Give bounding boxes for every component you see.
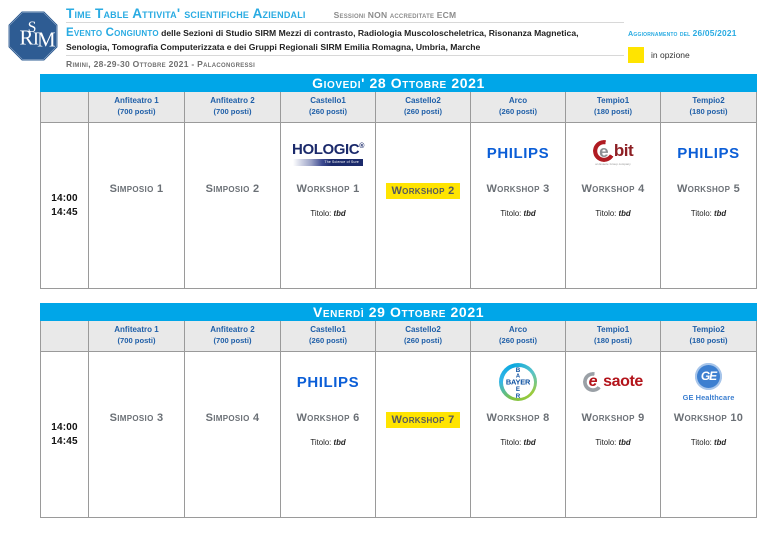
legend-option: in opzione: [628, 47, 768, 63]
titolo-value: tbd: [524, 209, 536, 218]
session-cell-content: PHILIPSWorkshop 5Titolo: tbd: [661, 123, 756, 288]
session-title: Titolo: tbd: [595, 209, 630, 218]
title-line: Time Table Attivita' scientifiche Aziend…: [66, 6, 624, 21]
day-bar-day: Venerdì: [313, 304, 364, 320]
room-header-0: Anfiteatro 1(700 posti): [89, 92, 185, 123]
session-name: Workshop 5: [677, 183, 740, 195]
sirm-logo-icon: R S I M: [7, 10, 59, 62]
room-header-3: Castello2(260 posti): [376, 321, 471, 352]
room-header-2: Castello1(260 posti): [281, 321, 376, 352]
room-seats: (700 posti): [91, 336, 182, 346]
ecm-note: Sessioni NON accreditate ECM: [316, 10, 457, 20]
room-header-row: Anfiteatro 1(700 posti)Anfiteatro 2(700 …: [41, 92, 757, 123]
sponsor-logo-slot: HOLOGIC®The Science of Sure: [281, 123, 375, 175]
room-header-2: Castello1(260 posti): [281, 92, 376, 123]
session-cell-6[interactable]: GEGE HealthcareWorkshop 10Titolo: tbd: [661, 352, 757, 518]
session-cell-5[interactable]: ebitan Esaote Group companyWorkshop 4Tit…: [566, 123, 661, 289]
room-header-5: Tempio1(180 posti): [566, 321, 661, 352]
room-header-spacer: [41, 321, 89, 352]
evento-divider: [66, 55, 624, 56]
session-cell-0[interactable]: Simposio 3: [89, 352, 185, 518]
session-cell-content: BAYERBAYERWorkshop 8Titolo: tbd: [471, 352, 565, 517]
session-cell-content: PHILIPSWorkshop 6Titolo: tbd: [281, 352, 375, 517]
room-header-4: Arco(260 posti): [471, 321, 566, 352]
session-title: Titolo: tbd: [310, 209, 345, 218]
header-right-block: Aggiornamento del 26/05/2021 in opzione: [628, 6, 768, 63]
timetable-page: R S I M Time Table Attivita' scientifich…: [0, 0, 768, 535]
session-name: Workshop 3: [486, 183, 549, 195]
room-name: Arco: [473, 325, 563, 336]
time-end: 14:45: [41, 206, 88, 220]
session-cell-content: esaoteWorkshop 9Titolo: tbd: [566, 352, 660, 517]
day-bar-day: Giovedi': [312, 75, 365, 91]
room-seats: (260 posti): [473, 336, 563, 346]
session-name: Workshop 8: [486, 412, 549, 424]
room-header-row: Anfiteatro 1(700 posti)Anfiteatro 2(700 …: [41, 321, 757, 352]
session-name: Simposio 2: [206, 183, 260, 195]
session-title: Titolo: tbd: [500, 438, 535, 447]
room-name: Arco: [473, 96, 563, 107]
room-header-1: Anfiteatro 2(700 posti): [185, 321, 281, 352]
day-bar-date: 28 Ottobre: [370, 75, 447, 91]
legend-label: in opzione: [651, 50, 690, 60]
room-seats: (180 posti): [663, 336, 754, 346]
titolo-label: Titolo:: [691, 438, 712, 447]
room-seats: (700 posti): [91, 107, 182, 117]
philips-logo-icon: PHILIPS: [297, 374, 360, 391]
esaote-logo-icon: esaote: [583, 372, 643, 392]
session-cell-content: ebitan Esaote Group companyWorkshop 4Tit…: [566, 123, 660, 288]
room-header-0: Anfiteatro 1(700 posti): [89, 321, 185, 352]
session-name: Simposio 3: [110, 412, 164, 424]
sponsor-logo-slot: [185, 352, 280, 404]
session-name: Workshop 4: [581, 183, 644, 195]
session-name-highlighted: Workshop 2: [386, 183, 459, 199]
session-title: Titolo: tbd: [691, 209, 726, 218]
session-cell-content: Workshop 2: [376, 123, 470, 288]
update-label: Aggiornamento del: [628, 29, 690, 38]
sponsor-logo-slot: ebitan Esaote Group company: [566, 123, 660, 175]
room-seats: (700 posti): [187, 107, 278, 117]
sponsor-logo-slot: [185, 123, 280, 175]
session-name: Simposio 1: [110, 183, 164, 195]
time-start: 14:00: [41, 192, 88, 206]
session-cell-content: GEGE HealthcareWorkshop 10Titolo: tbd: [661, 352, 756, 517]
room-name: Anfiteatro 2: [187, 325, 278, 336]
day-bar-year: 2021: [451, 75, 485, 91]
day-bar-row: Venerdì 29 Ottobre 2021: [41, 304, 757, 321]
timetable-zone: Giovedi' 28 Ottobre 2021Anfiteatro 1(700…: [0, 74, 768, 518]
room-name: Anfiteatro 1: [91, 96, 182, 107]
room-header-3: Castello2(260 posti): [376, 92, 471, 123]
session-name: Workshop 9: [581, 412, 644, 424]
titolo-label: Titolo:: [595, 438, 616, 447]
session-cell-4[interactable]: PHILIPSWorkshop 3Titolo: tbd: [471, 123, 566, 289]
titolo-value: tbd: [334, 438, 346, 447]
room-seats: (260 posti): [283, 107, 373, 117]
update-date: 26/05/2021: [693, 28, 737, 38]
day-bar-row: Giovedi' 28 Ottobre 2021: [41, 75, 757, 92]
sponsor-logo-slot: PHILIPS: [661, 123, 756, 175]
room-header-1: Anfiteatro 2(700 posti): [185, 92, 281, 123]
session-cell-1[interactable]: Simposio 4: [185, 352, 281, 518]
session-cell-1[interactable]: Simposio 2: [185, 123, 281, 289]
session-cell-6[interactable]: PHILIPSWorkshop 5Titolo: tbd: [661, 123, 757, 289]
session-cell-content: PHILIPSWorkshop 3Titolo: tbd: [471, 123, 565, 288]
page-title: Time Table Attivita' scientifiche Aziend…: [66, 6, 306, 21]
session-name-highlighted: Workshop 7: [386, 412, 459, 428]
time-start: 14:00: [41, 421, 88, 435]
title-divider: [66, 22, 624, 23]
room-seats: (700 posti): [187, 336, 278, 346]
session-title: Titolo: tbd: [691, 438, 726, 447]
room-name: Castello1: [283, 325, 373, 336]
titolo-value: tbd: [714, 438, 726, 447]
titolo-label: Titolo:: [500, 209, 521, 218]
room-name: Castello2: [378, 96, 468, 107]
day-bar: Venerdì 29 Ottobre 2021: [41, 304, 757, 321]
evento-label: Evento Congiunto: [66, 27, 159, 39]
day-bar-year: 2021: [451, 304, 485, 320]
room-name: Tempio2: [663, 96, 754, 107]
room-name: Anfiteatro 1: [91, 325, 182, 336]
room-name: Tempio2: [663, 325, 754, 336]
time-end: 14:45: [41, 435, 88, 449]
legend-swatch-icon: [628, 47, 644, 63]
session-row: 14:0014:45Simposio 1Simposio 2HOLOGIC®Th…: [41, 123, 757, 289]
session-title: Titolo: tbd: [500, 209, 535, 218]
titolo-label: Titolo:: [691, 209, 712, 218]
session-name: Workshop 6: [296, 412, 359, 424]
sponsor-logo-slot: PHILIPS: [471, 123, 565, 175]
sponsor-logo-slot: [376, 352, 470, 404]
timetable-day-1: Venerdì 29 Ottobre 2021Anfiteatro 1(700 …: [40, 303, 757, 518]
session-name: Workshop 1: [296, 183, 359, 195]
titolo-value: tbd: [714, 209, 726, 218]
room-header-6: Tempio2(180 posti): [661, 92, 757, 123]
room-seats: (260 posti): [283, 336, 373, 346]
sponsor-logo-slot: GEGE Healthcare: [661, 352, 756, 404]
room-header-6: Tempio2(180 posti): [661, 321, 757, 352]
room-header-5: Tempio1(180 posti): [566, 92, 661, 123]
session-name: Simposio 4: [206, 412, 260, 424]
philips-logo-icon: PHILIPS: [487, 145, 550, 162]
session-cell-3[interactable]: Workshop 7: [376, 352, 471, 518]
day-bar: Giovedi' 28 Ottobre 2021: [41, 75, 757, 92]
room-name: Anfiteatro 2: [187, 96, 278, 107]
philips-logo-icon: PHILIPS: [677, 145, 740, 162]
session-cell-content: HOLOGIC®The Science of SureWorkshop 1Tit…: [281, 123, 375, 288]
hologic-logo-icon: HOLOGIC®The Science of Sure: [292, 141, 364, 166]
bayer-logo-icon: BAYERBAYER: [499, 363, 537, 401]
timetable-day-0: Giovedi' 28 Ottobre 2021Anfiteatro 1(700…: [40, 74, 757, 289]
session-cell-2[interactable]: PHILIPSWorkshop 6Titolo: tbd: [281, 352, 376, 518]
titolo-value: tbd: [524, 438, 536, 447]
session-title: Titolo: tbd: [595, 438, 630, 447]
room-seats: (260 posti): [473, 107, 563, 117]
titolo-label: Titolo:: [310, 209, 331, 218]
room-name: Castello2: [378, 325, 468, 336]
room-name: Tempio1: [568, 325, 658, 336]
session-title: Titolo: tbd: [310, 438, 345, 447]
room-header-spacer: [41, 92, 89, 123]
sirm-logo-wrap: R S I M: [0, 6, 66, 62]
room-seats: (180 posti): [663, 107, 754, 117]
room-header-4: Arco(260 posti): [471, 92, 566, 123]
titolo-label: Titolo:: [310, 438, 331, 447]
evento-line: Evento Congiunto delle Sezioni di Studio…: [66, 25, 624, 54]
session-cell-content: Simposio 4: [185, 352, 280, 517]
sponsor-logo-slot: BAYERBAYER: [471, 352, 565, 404]
room-name: Tempio1: [568, 96, 658, 107]
sponsor-logo-slot: [89, 123, 184, 175]
sponsor-logo-slot: [376, 123, 470, 175]
session-cell-content: Simposio 2: [185, 123, 280, 288]
update-info: Aggiornamento del 26/05/2021: [628, 28, 768, 38]
session-cell-3[interactable]: Workshop 2: [376, 123, 471, 289]
sponsor-logo-slot: [89, 352, 184, 404]
ebit-logo-icon: ebitan Esaote Group company: [593, 140, 633, 166]
session-row: 14:0014:45Simposio 3Simposio 4PHILIPSWor…: [41, 352, 757, 518]
sponsor-logo-slot: esaote: [566, 352, 660, 404]
sponsor-logo-slot: PHILIPS: [281, 352, 375, 404]
room-seats: (260 posti): [378, 107, 468, 117]
titolo-label: Titolo:: [500, 438, 521, 447]
time-slot: 14:0014:45: [41, 123, 89, 289]
session-cell-0[interactable]: Simposio 1: [89, 123, 185, 289]
room-seats: (260 posti): [378, 336, 468, 346]
titolo-value: tbd: [619, 209, 631, 218]
room-name: Castello1: [283, 96, 373, 107]
svg-text:M: M: [37, 28, 56, 51]
day-1-body: Venerdì 29 Ottobre 2021Anfiteatro 1(700 …: [41, 304, 757, 518]
session-name: Workshop 10: [674, 412, 743, 424]
day-0-body: Giovedi' 28 Ottobre 2021Anfiteatro 1(700…: [41, 75, 757, 289]
room-seats: (180 posti): [568, 107, 658, 117]
titolo-value: tbd: [619, 438, 631, 447]
titolo-value: tbd: [334, 209, 346, 218]
header-text-block: Time Table Attivita' scientifiche Aziend…: [66, 6, 628, 69]
ge-healthcare-logo-icon: GEGE Healthcare: [683, 363, 735, 402]
city-date-line: Rimini, 28-29-30 Ottobre 2021 - Palacong…: [66, 59, 624, 69]
titolo-label: Titolo:: [595, 209, 616, 218]
day-bar-date: 29 Ottobre: [369, 304, 446, 320]
session-cell-5[interactable]: esaoteWorkshop 9Titolo: tbd: [566, 352, 661, 518]
session-cell-content: Simposio 1: [89, 123, 184, 288]
page-header: R S I M Time Table Attivita' scientifich…: [0, 0, 768, 74]
room-seats: (180 posti): [568, 336, 658, 346]
tables-gap: [40, 289, 756, 303]
session-cell-content: Simposio 3: [89, 352, 184, 517]
time-slot: 14:0014:45: [41, 352, 89, 518]
session-cell-2[interactable]: HOLOGIC®The Science of SureWorkshop 1Tit…: [281, 123, 376, 289]
session-cell-4[interactable]: BAYERBAYERWorkshop 8Titolo: tbd: [471, 352, 566, 518]
session-cell-content: Workshop 7: [376, 352, 470, 517]
